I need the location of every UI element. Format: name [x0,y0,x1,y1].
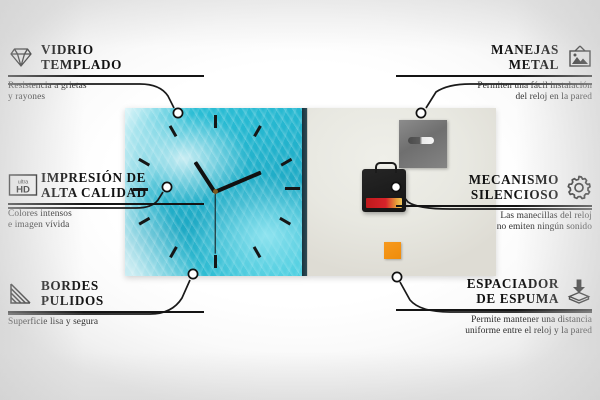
foam-spacer-pad [384,242,401,259]
feature-desc-line1: Las manecillas del reloj [500,211,592,221]
feature-impresion-alta-calidad: ultra HD IMPRESIÓN DE ALTA CALIDAD Color… [8,170,204,232]
divider [396,309,592,311]
feature-desc-line1: Superficie lisa y segura [8,317,98,327]
feature-title-line2: SILENCIOSO [471,187,559,202]
divider [8,311,204,313]
feature-desc-line1: Colores intensos [8,209,72,219]
infographic-canvas: VIDRIO TEMPLADO Resistencia a grietas y … [0,0,600,400]
feature-title-line1: VIDRIO [41,42,94,57]
polished-edge-icon [8,280,34,306]
feature-desc-line1: Permiten una fácil instalación [477,81,592,91]
feature-title-line1: ESPACIADOR [467,276,559,291]
feature-desc-line2: uniforme entre el reloj y la pared [465,326,592,336]
feature-desc-line2: e imagen vívida [8,220,69,230]
divider [396,75,592,77]
feature-desc-line1: Resistencia a grietas [8,81,87,91]
feature-desc-line1: Permite mantener una distancia [471,315,592,325]
ultra-hd-icon: ultra HD [8,172,34,198]
second-hand [214,192,215,254]
feature-title-line2: TEMPLADO [41,57,122,72]
divider [8,75,204,77]
clock-center-pin [213,189,218,194]
divider [396,205,592,207]
foam-spacer-icon [566,278,592,304]
minute-hand [214,171,262,195]
feature-espaciador-espuma: ESPACIADOR DE ESPUMA Permite mantener un… [396,276,592,338]
feature-bordes-pulidos: BORDES PULIDOS Superficie lisa y segura [8,278,204,328]
divider [8,203,204,205]
gear-icon [566,174,592,200]
feature-title-line2: ALTA CALIDAD [41,185,147,200]
feature-manejas-metal: MANEJAS METAL Permiten una fácil instala… [396,42,592,104]
feature-title-line1: IMPRESIÓN DE [41,170,146,185]
feature-title-line1: MANEJAS [491,42,559,57]
feature-title-line2: METAL [509,57,559,72]
feature-title-line2: PULIDOS [41,293,104,308]
feature-title-line1: MECANISMO [469,172,559,187]
feature-desc-line2: del reloj en la pared [515,92,592,102]
feature-title-line2: DE ESPUMA [476,291,559,306]
feature-mecanismo-silencioso: MECANISMO SILENCIOSO Las manecillas del … [396,172,592,234]
diamond-icon [8,44,34,70]
feature-title-line1: BORDES [41,278,99,293]
feature-vidrio-templado: VIDRIO TEMPLADO Resistencia a grietas y … [8,42,204,104]
feature-desc-line2: y rayones [8,92,45,102]
svg-text:HD: HD [16,185,30,196]
picture-frame-icon [566,44,592,70]
hanger-plate [399,120,447,168]
feature-desc-line2: no emiten ningún sonido [497,222,592,232]
